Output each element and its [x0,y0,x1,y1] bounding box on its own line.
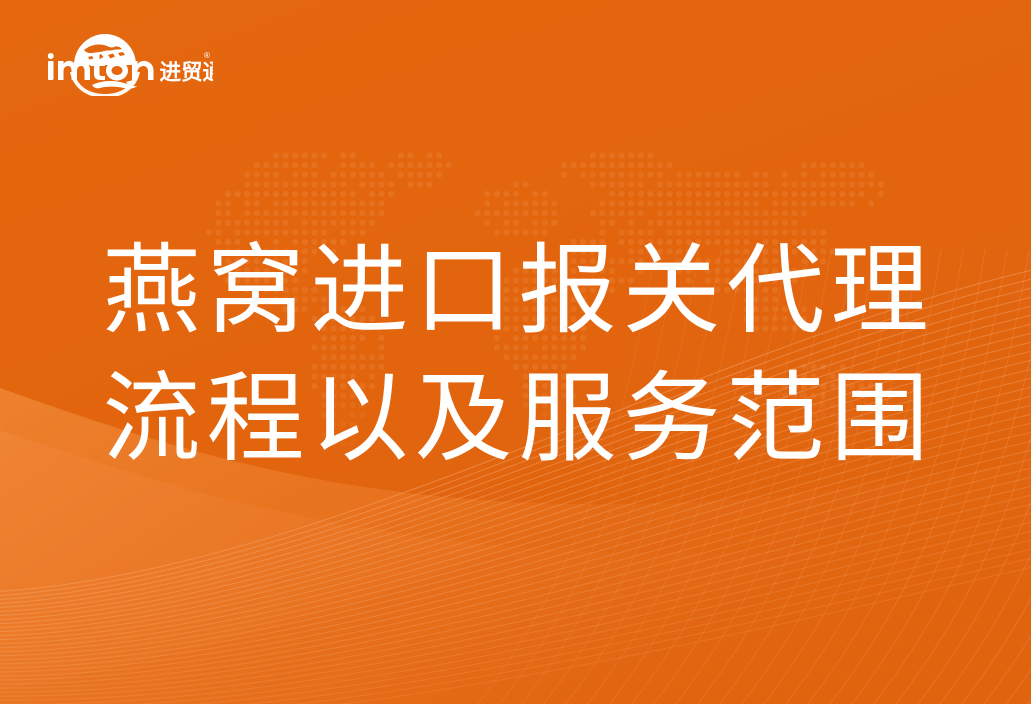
swoosh-icon [92,80,137,89]
page-title: 燕窝进口报关代理 流程以及服务范围 [0,228,1031,484]
headline-line-2: 流程以及服务范围 [0,356,1031,484]
trademark-symbol: ® [204,51,210,60]
headline-line-1: 燕窝进口报关代理 [0,228,1031,356]
imton-logo[interactable]: 进贸通 ® [38,30,213,96]
logo-wordmark-chinese: 进贸通 [160,61,214,85]
promo-banner: 进贸通 ® 燕窝进口报关代理 流程以及服务范围 [0,0,1031,704]
